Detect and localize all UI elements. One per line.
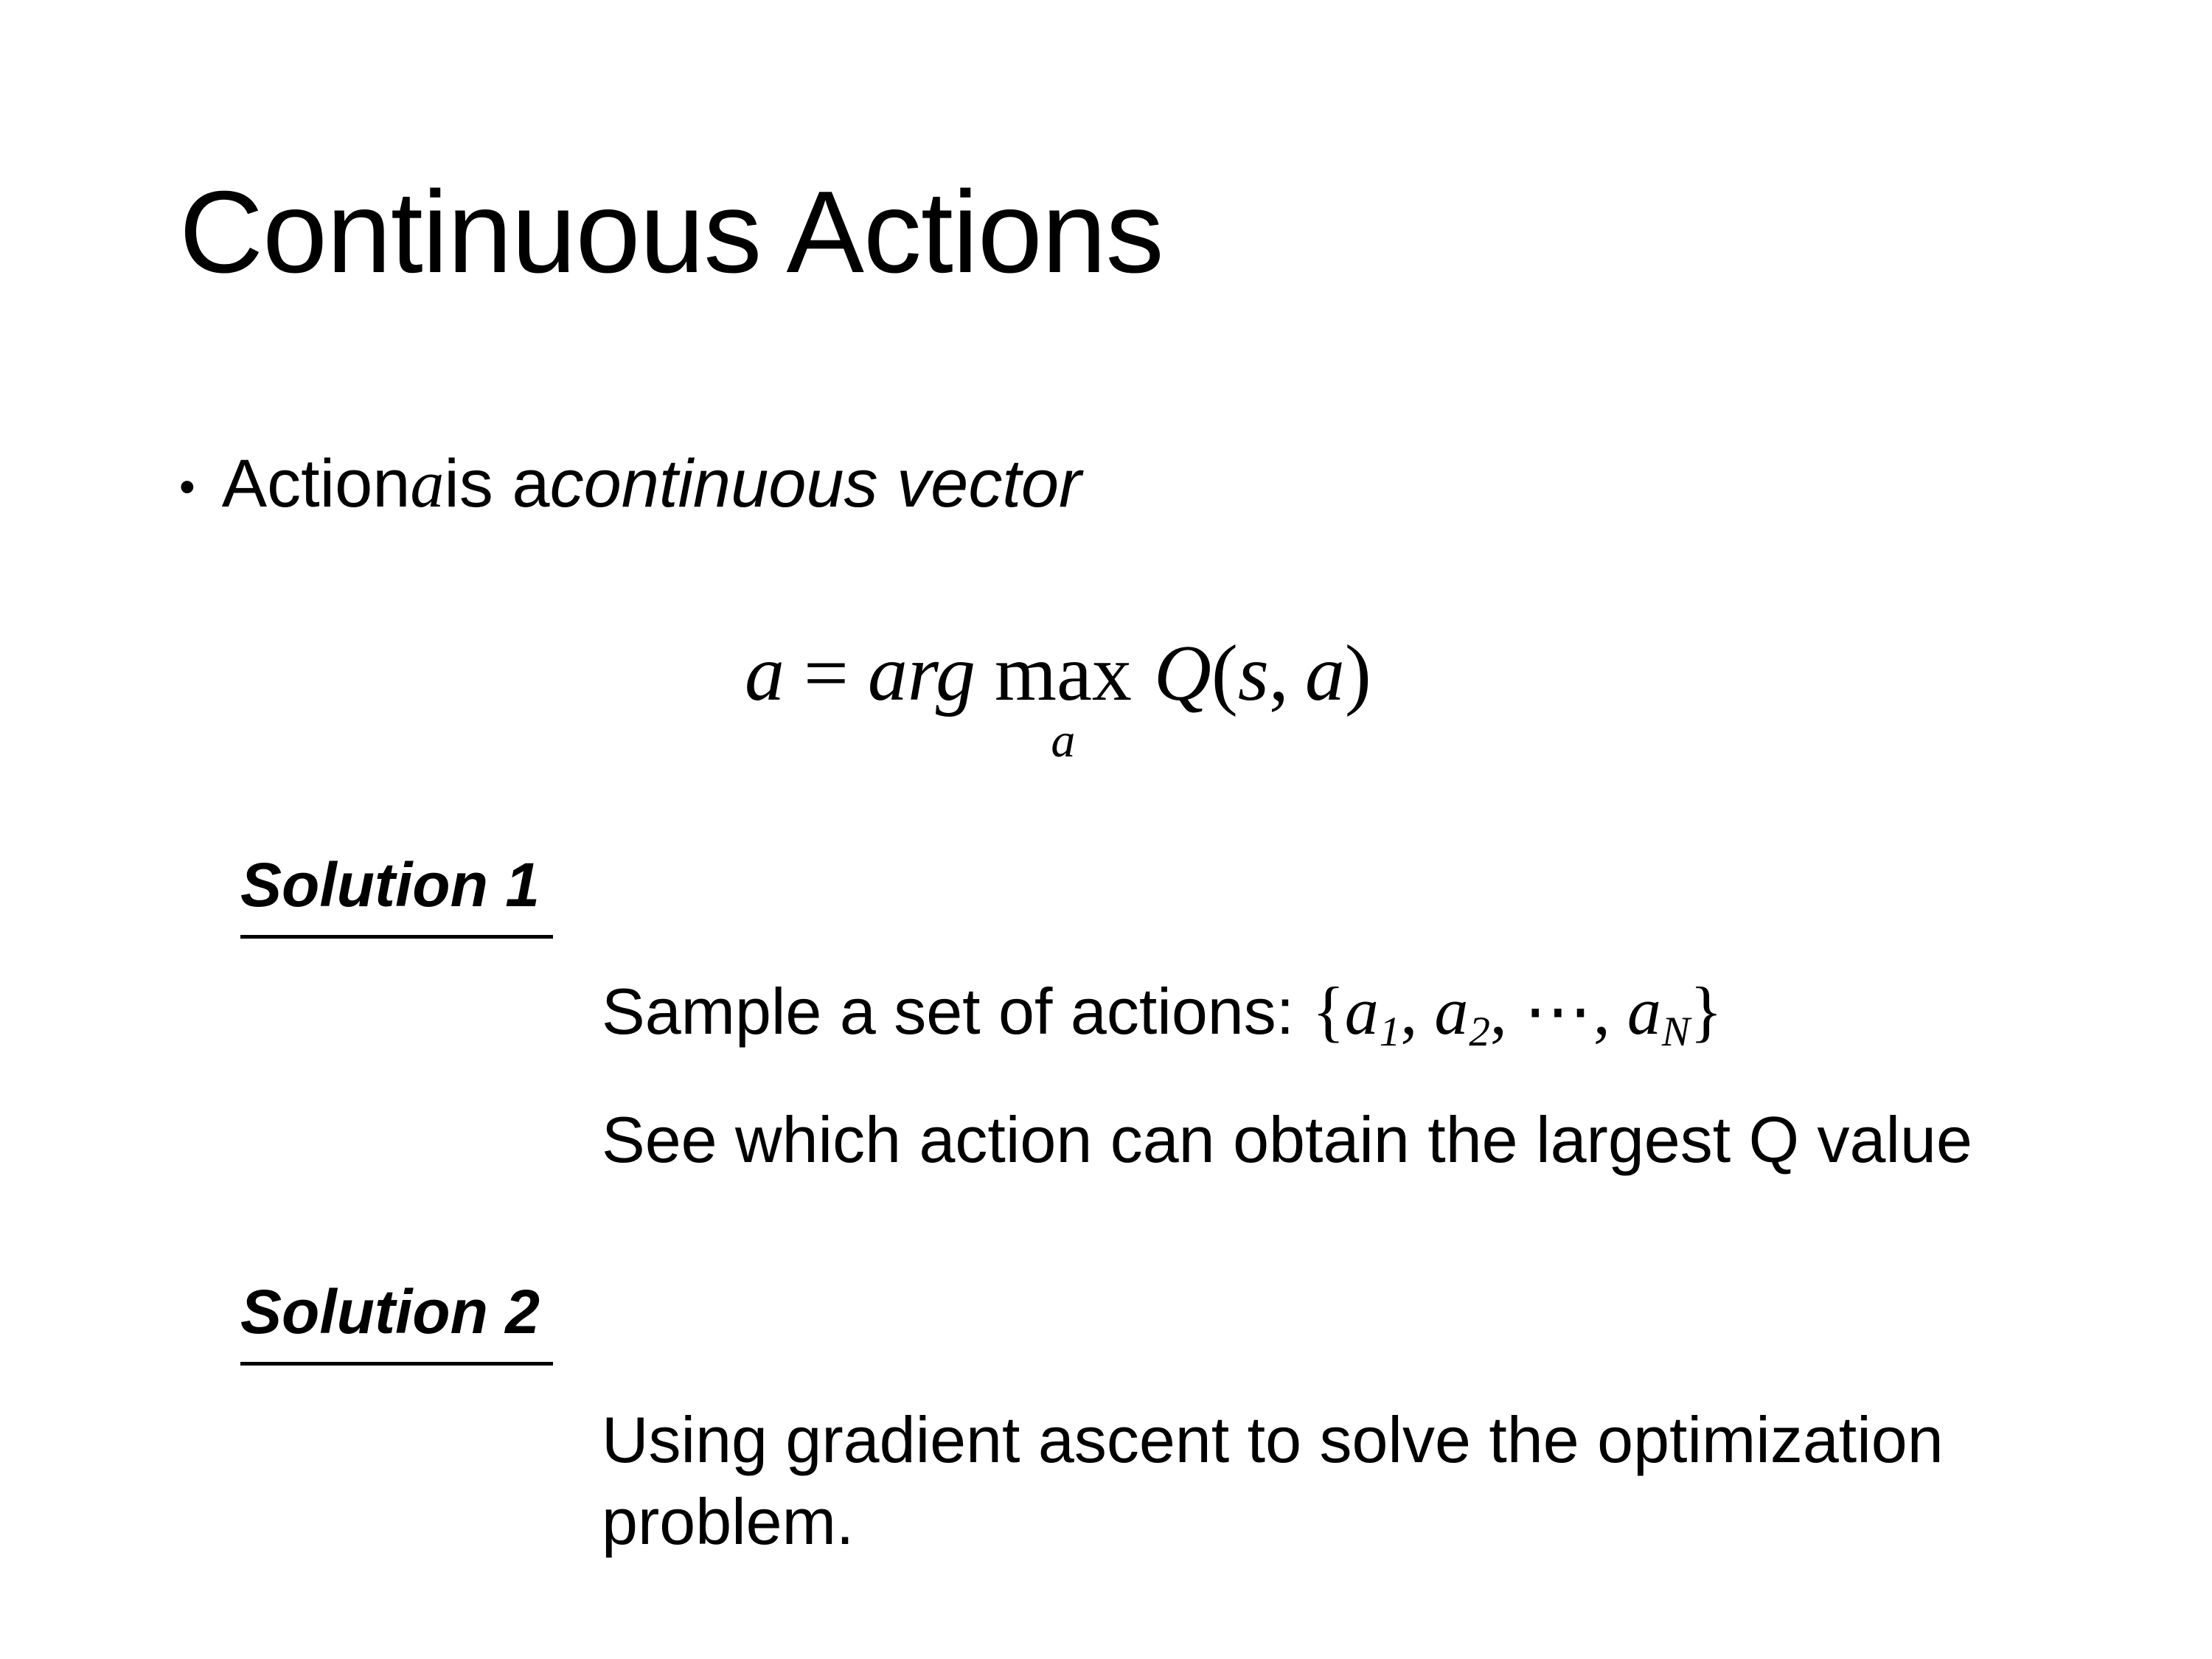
equation-max-label: max bbox=[995, 634, 1132, 714]
action-set-notation: {a1, a2, ⋯, aN} bbox=[1312, 973, 1722, 1048]
set-open-brace: { bbox=[1312, 973, 1345, 1048]
equation-q-function: Q bbox=[1154, 634, 1211, 714]
equation-argmax: a = arg max a Q ( s , a ) bbox=[745, 634, 1371, 765]
solution-1-line-largest-q: See which action can obtain the largest … bbox=[602, 1102, 1972, 1178]
action-a2-subscript: 2 bbox=[1469, 1009, 1490, 1055]
set-ellipsis: ⋯ bbox=[1524, 973, 1593, 1048]
solution-1-line-sample-actions: Sample a set of actions: {a1, a2, ⋯, aN} bbox=[602, 972, 1722, 1057]
action-a1-base: a bbox=[1345, 973, 1379, 1048]
action-a2-base: a bbox=[1434, 973, 1468, 1048]
bullet-item-action: • Action a is a continuous vector bbox=[179, 450, 1082, 518]
bullet-math-variable-a: a bbox=[410, 450, 444, 518]
section-heading-solution-1: Solution 1 bbox=[240, 854, 553, 939]
equation-open-paren: ( bbox=[1211, 634, 1238, 714]
solution-2-paragraph: Using gradient ascent to solve the optim… bbox=[602, 1399, 2106, 1563]
action-a1-subscript: 1 bbox=[1380, 1009, 1401, 1055]
page-title: Continuous Actions bbox=[179, 174, 1164, 291]
equation-equals-sign: = bbox=[804, 634, 849, 714]
section-heading-solution-2: Solution 2 bbox=[240, 1281, 553, 1366]
equation-close-paren: ) bbox=[1345, 634, 1371, 714]
equation-state-var-s: s bbox=[1238, 634, 1269, 714]
equation-max-subscript-a: a bbox=[1051, 717, 1075, 765]
equation-comma: , bbox=[1269, 634, 1289, 714]
action-aN-base: a bbox=[1627, 973, 1661, 1048]
set-separator-1: , bbox=[1400, 973, 1434, 1048]
bullet-emphasis-continuous-vector: continuous vector bbox=[550, 450, 1082, 518]
action-aN-subscript: N bbox=[1662, 1009, 1690, 1055]
bullet-point-icon: • bbox=[179, 465, 195, 510]
equation-arg: arg bbox=[868, 634, 975, 714]
bullet-text-middle: is a bbox=[444, 450, 549, 518]
set-close-brace: } bbox=[1690, 973, 1722, 1048]
bullet-text-prefix: Action bbox=[222, 450, 411, 518]
equation-action-var-a: a bbox=[1305, 634, 1345, 714]
set-separator-3: , bbox=[1593, 973, 1627, 1048]
set-separator-2: , bbox=[1490, 973, 1524, 1048]
equation-max-operator-group: max a bbox=[995, 634, 1132, 765]
equation-lhs-a: a bbox=[745, 634, 785, 714]
sample-actions-prefix: Sample a set of actions: bbox=[602, 975, 1312, 1048]
slide-canvas: Continuous Actions • Action a is a conti… bbox=[0, 0, 2212, 1659]
